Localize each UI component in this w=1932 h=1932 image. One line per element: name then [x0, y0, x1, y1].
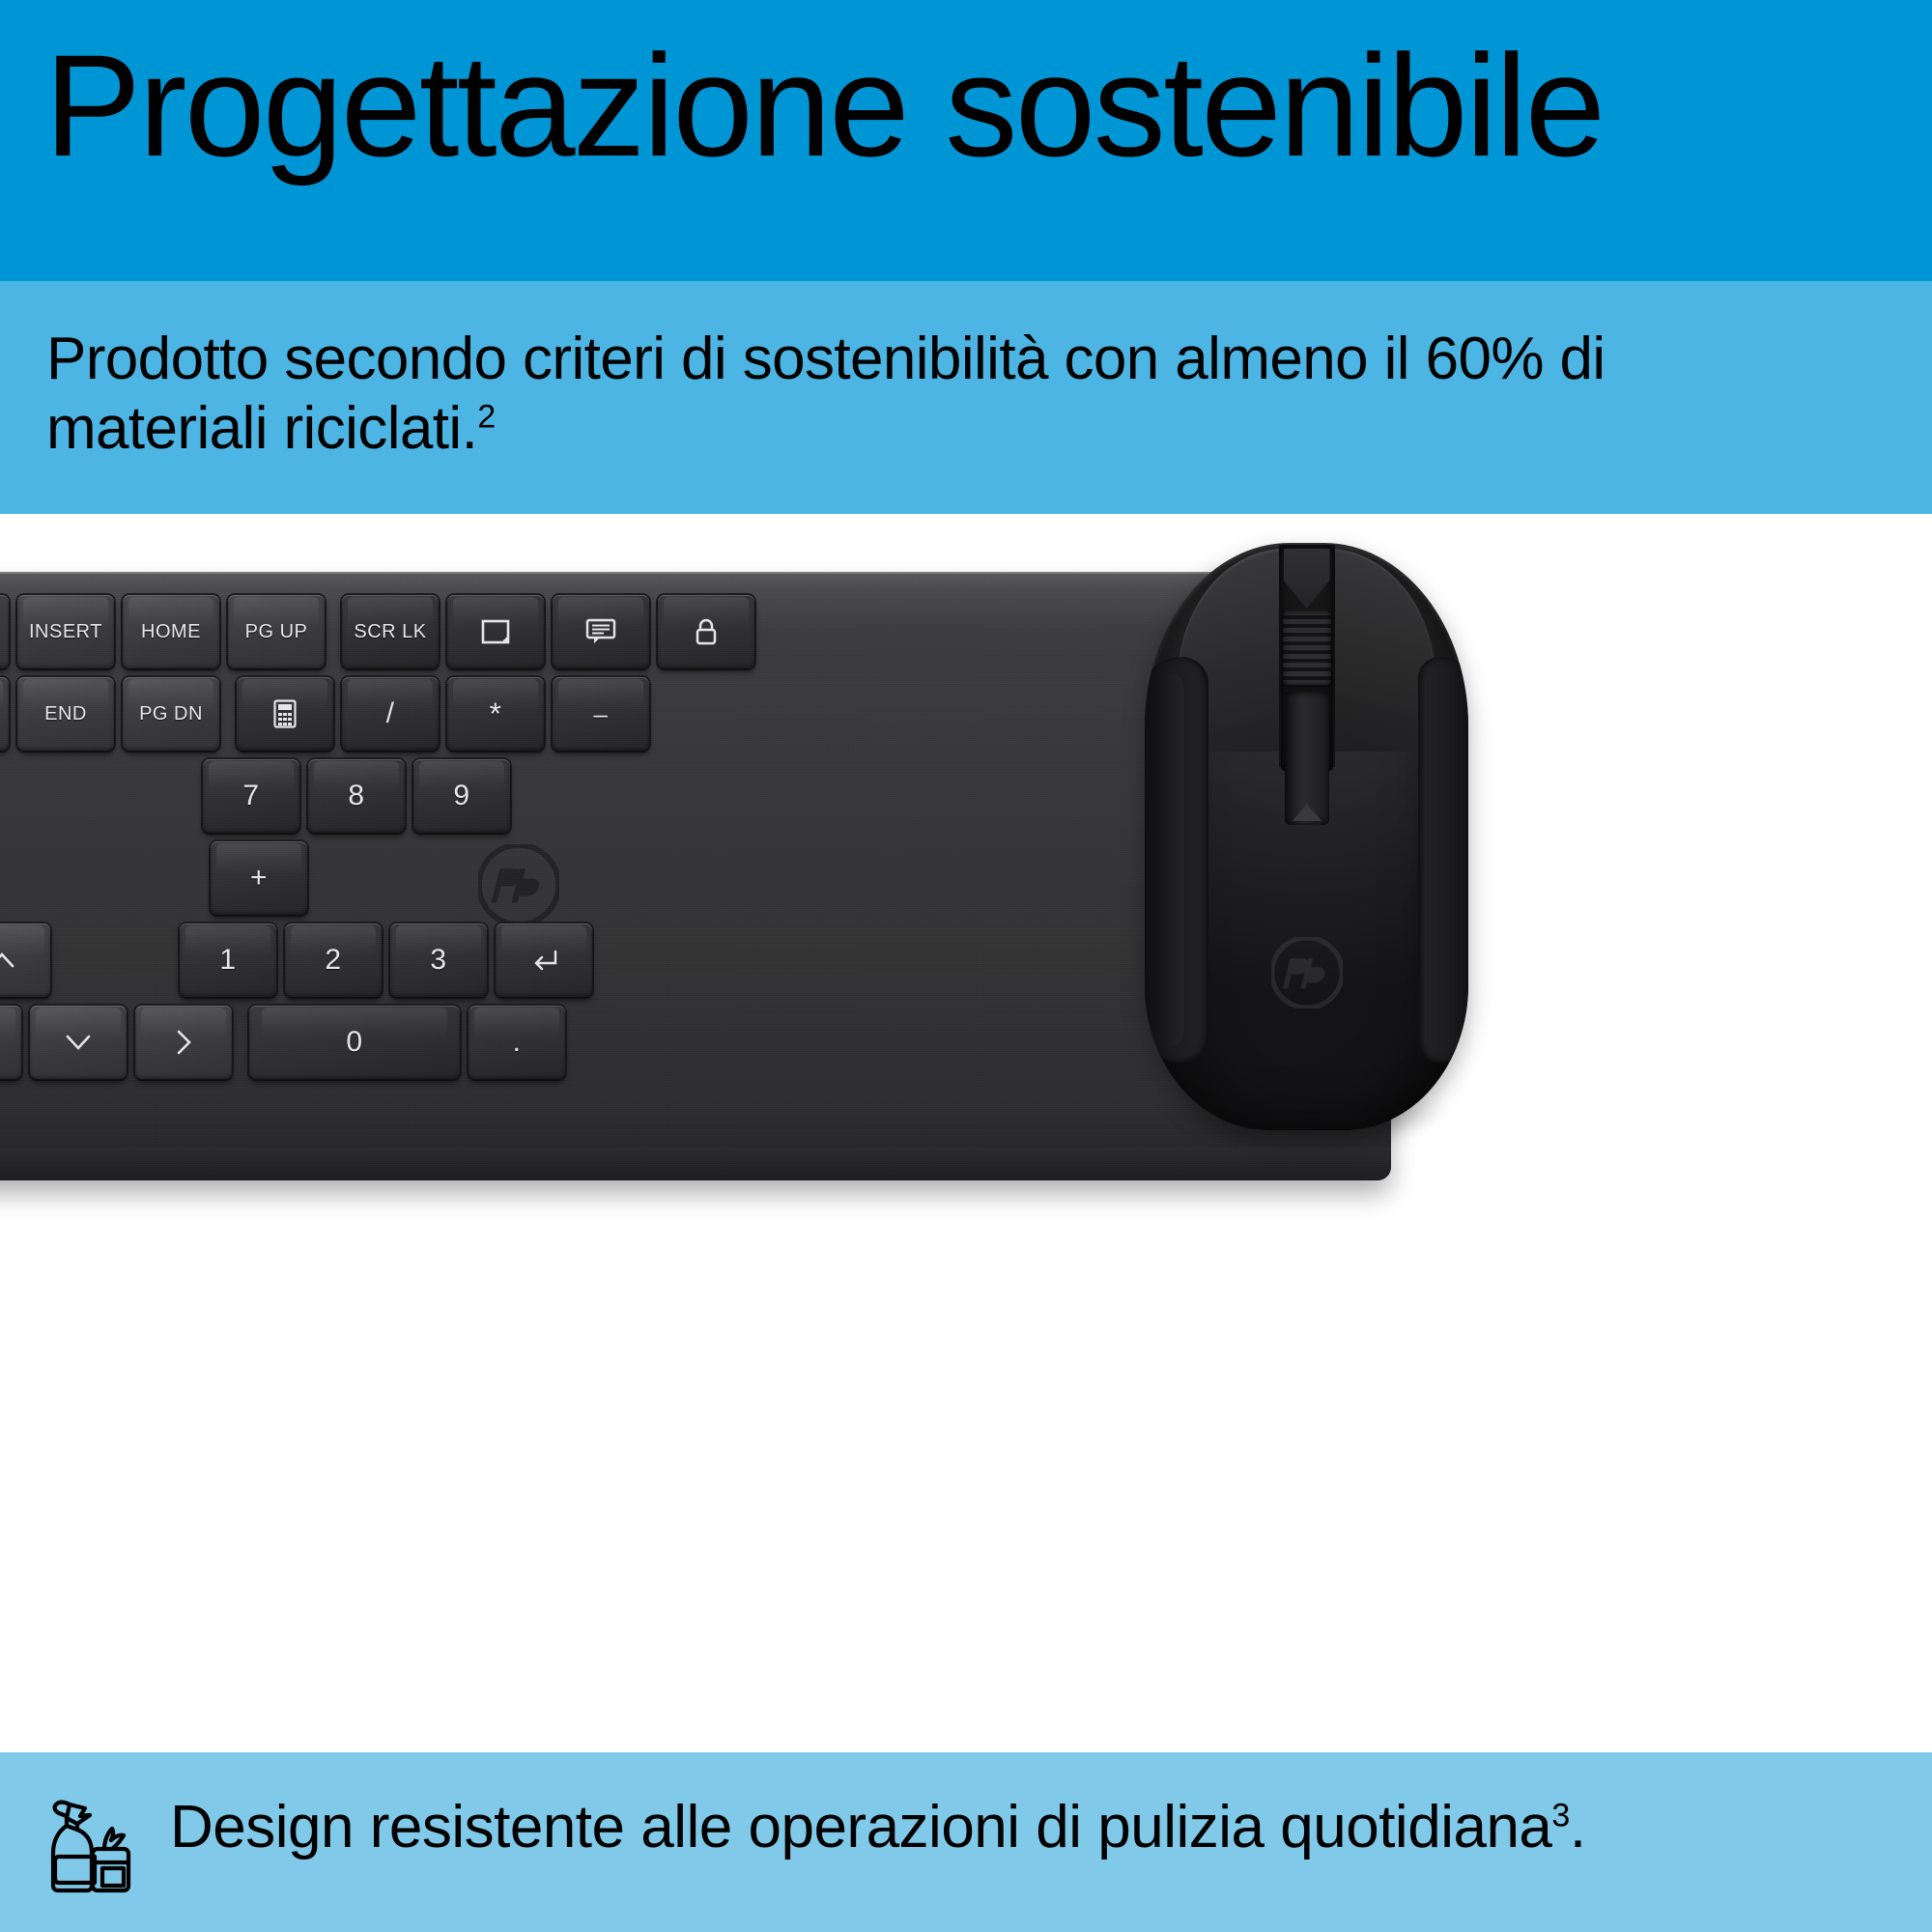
key-numpad-decimal[interactable]: . — [469, 1006, 565, 1079]
chat-bubble-icon — [585, 618, 616, 645]
hp-logo — [1271, 937, 1343, 1009]
keyboard-row-modifier: ALT CTRL — [0, 1006, 565, 1079]
key-np8-label: 8 — [348, 780, 364, 812]
header-band: Progettazione sostenibile — [0, 0, 1932, 281]
mouse-body — [1145, 543, 1468, 1130]
arrow-down-icon — [64, 1032, 93, 1053]
key-end[interactable]: END — [17, 677, 114, 751]
key-multiply-label: * — [490, 696, 502, 732]
keyboard-row-shift: > . ? / SHIFT 1 2 3 — [0, 923, 592, 997]
key-arrow-right[interactable] — [135, 1006, 232, 1079]
key-numpad-7[interactable]: 7 — [203, 759, 299, 833]
subtitle-band: Prodotto secondo criteri di sostenibilit… — [0, 281, 1932, 514]
key-divide-label: / — [386, 697, 395, 730]
key-numpad-0[interactable]: 0 — [249, 1006, 460, 1079]
key-numpad-multiply[interactable]: * — [447, 677, 544, 751]
key-scrlk[interactable]: SCR LK — [342, 595, 439, 668]
key-numpad-plus[interactable]: + — [211, 841, 307, 915]
key-numpad-8[interactable]: 8 — [308, 759, 405, 833]
key-numpad-2[interactable]: 2 — [285, 923, 382, 997]
keyboard-row-function: F11 F12 — [0, 595, 754, 668]
key-insert[interactable]: INSERT — [17, 595, 114, 668]
scroll-wheel-channel — [1285, 692, 1329, 825]
enter-return-icon — [528, 949, 559, 972]
key-pgdn-label: PG DN — [139, 703, 203, 725]
key-arrow-down[interactable] — [30, 1006, 127, 1079]
key-numpad-1[interactable]: 1 — [180, 923, 276, 997]
key-np1-label: 1 — [219, 944, 236, 977]
key-numpad-divide[interactable]: / — [342, 677, 439, 751]
key-np9-label: 9 — [453, 780, 469, 812]
key-mic-mute[interactable] — [0, 595, 9, 668]
key-home[interactable]: HOME — [123, 595, 219, 668]
key-pgup-label: PG UP — [245, 621, 308, 643]
key-pgup[interactable]: PG UP — [228, 595, 325, 668]
subtitle-line-2: materiali riciclati. — [46, 395, 477, 462]
key-arrow-up[interactable] — [0, 923, 50, 997]
key-np3-label: 3 — [430, 944, 446, 977]
key-np2-label: 2 — [325, 944, 341, 977]
product-image-area: F11 F12 — [0, 514, 1932, 1752]
subtitle-footnote: 2 — [477, 398, 495, 435]
page-title: Progettazione sostenibile — [44, 33, 1604, 178]
calculator-icon — [273, 699, 297, 728]
key-insert-label: INSERT — [29, 621, 102, 643]
key-numpad-enter[interactable] — [496, 923, 592, 997]
key-np7-label: 7 — [242, 780, 259, 812]
spray-bottle-and-wipes-icon — [35, 1785, 151, 1901]
mouse-left-grip — [1145, 657, 1208, 1063]
mouse-right-grip — [1418, 657, 1468, 1063]
key-end-label: END — [44, 703, 87, 725]
hp-logo — [478, 844, 559, 925]
key-npplus-label: + — [250, 862, 268, 895]
key-scrlk-label: SCR LK — [354, 621, 426, 643]
footer-text-main: Design resistente alle operazioni di pul… — [170, 1794, 1551, 1861]
footer-text-suffix: . — [1570, 1794, 1586, 1861]
key-numpad-minus[interactable]: – — [553, 677, 649, 751]
key-npminus-label: – — [594, 699, 609, 729]
mouse-device — [1145, 543, 1468, 1147]
key-npdot-label: . — [513, 1026, 522, 1059]
arrow-right-icon — [173, 1028, 194, 1057]
footer-footnote: 3 — [1551, 1797, 1569, 1833]
scroll-wheel[interactable] — [1283, 611, 1331, 686]
key-arrow-left[interactable] — [0, 1006, 21, 1079]
key-pgdn[interactable]: PG DN — [123, 677, 219, 751]
snip-screenshot-icon — [481, 619, 510, 644]
footer-band: Design resistente alle operazioni di pul… — [0, 1752, 1932, 1932]
footer-text: Design resistente alle operazioni di pul… — [170, 1795, 1586, 1861]
key-chat[interactable] — [553, 595, 649, 668]
keyboard-row-number: – - + = BACKSPACE DELETE END PG DN / * – — [0, 677, 649, 751]
key-numpad-3[interactable]: 3 — [390, 923, 487, 997]
key-lock[interactable] — [658, 595, 754, 668]
subtitle-text: Prodotto secondo criteri di sostenibilit… — [46, 325, 1882, 464]
keyboard-bottom-edge — [0, 1148, 1391, 1180]
key-snip[interactable] — [447, 595, 544, 668]
arrow-up-icon — [0, 950, 16, 971]
key-np0-label: 0 — [346, 1026, 362, 1059]
key-numpad-9[interactable]: 9 — [413, 759, 510, 833]
key-delete[interactable]: DELETE — [0, 677, 9, 751]
keyboard-row-qwerty: P { [ } ] | \ 7 8 9 — [0, 759, 510, 833]
key-home-label: HOME — [141, 621, 201, 643]
padlock-icon — [694, 617, 719, 646]
subtitle-line-1: Prodotto secondo criteri di sostenibilit… — [46, 326, 1605, 392]
key-numlock-calc[interactable] — [237, 677, 333, 751]
